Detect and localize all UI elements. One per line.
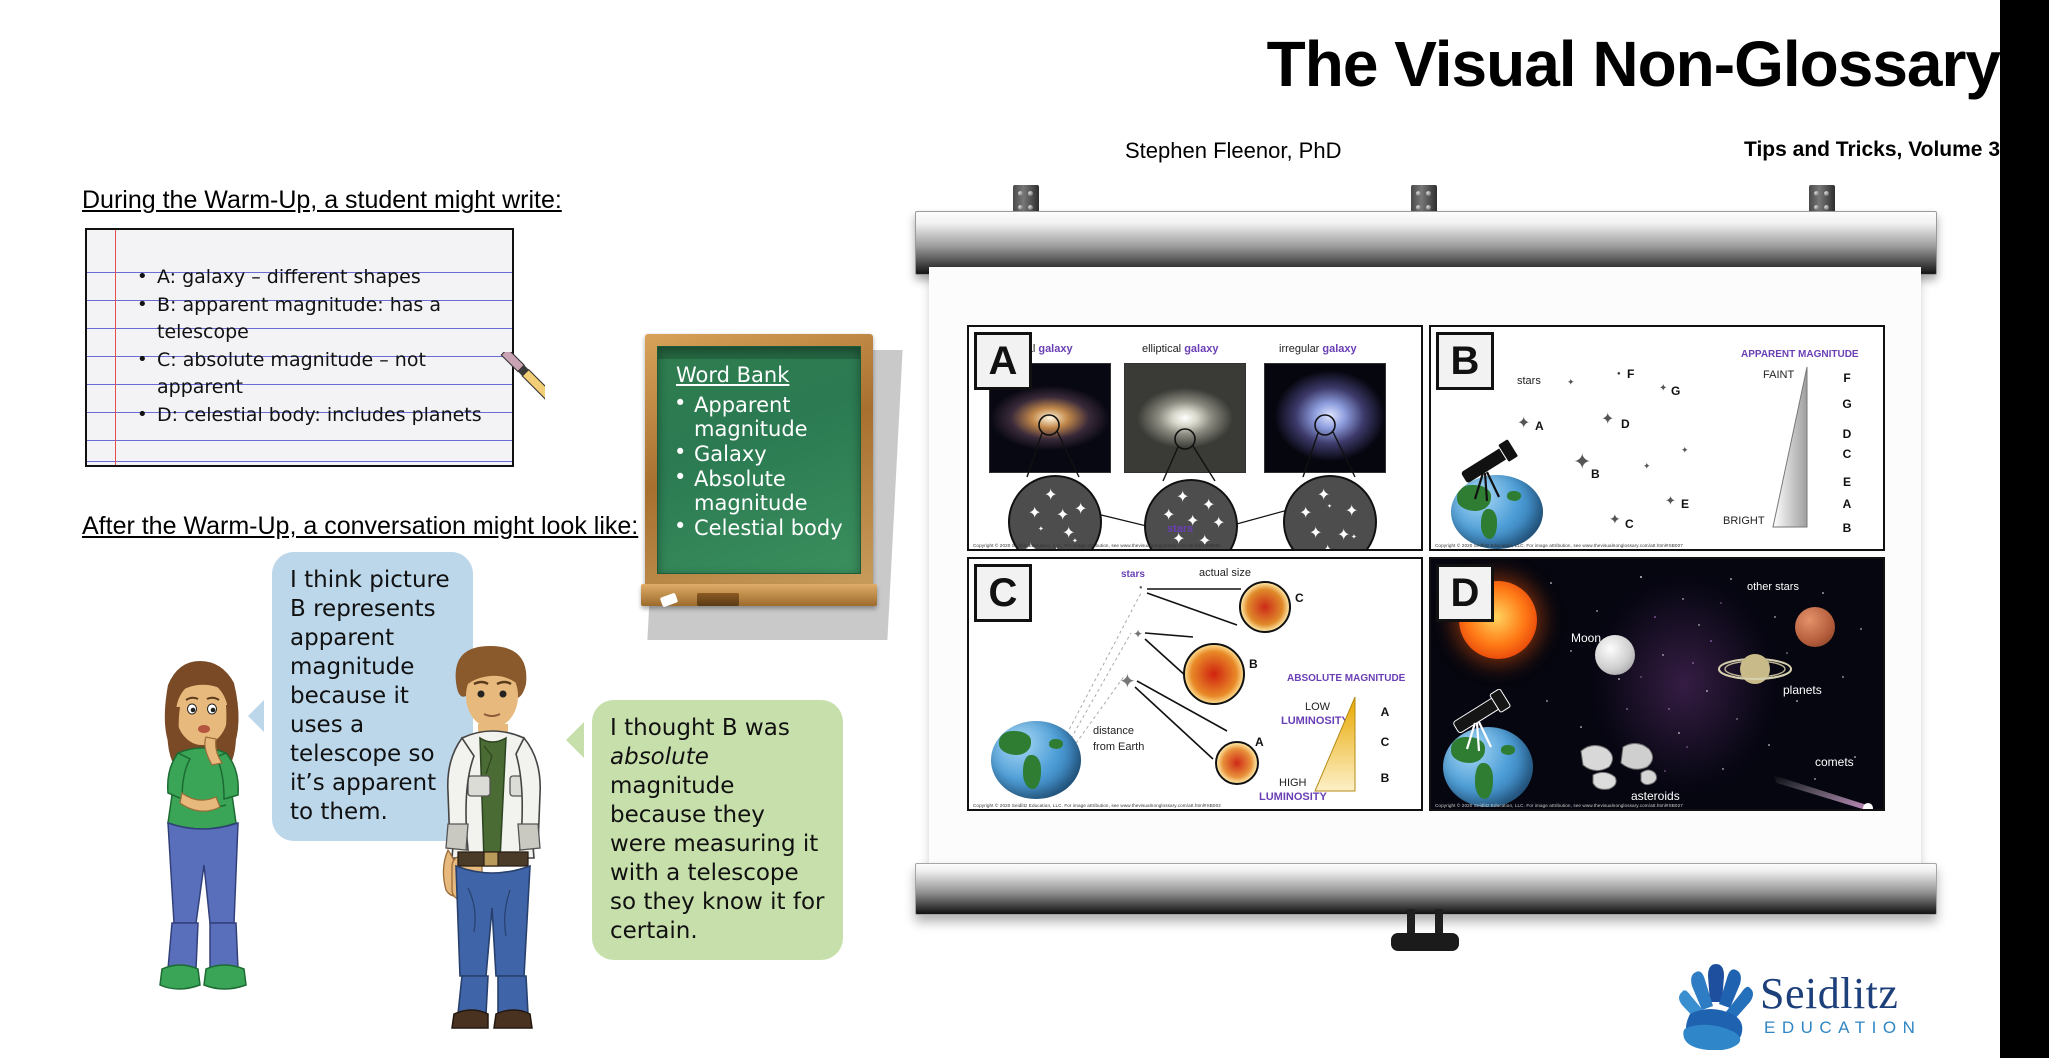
scale-c-item-b: B [1377,771,1393,785]
magnitude-triangle-b [1763,365,1829,531]
list-item: A: galaxy – different shapes [131,264,504,291]
panel-label-b: B [1436,332,1494,390]
hand-icon [1672,962,1758,1050]
mars-image [1795,607,1835,647]
planets-label: planets [1783,683,1822,697]
scale-item-g: G [1839,397,1855,411]
star-glyph: ✦ [1681,445,1689,456]
star-label-g: G [1671,384,1680,398]
other-stars-label: other stars [1747,581,1799,593]
eraser-icon [697,593,739,606]
list-item: Apparent magnitude [672,393,854,441]
panels-grid: A spiral galaxy elliptical galaxy irregu… [967,325,1883,809]
comet-image [1771,771,1881,811]
projector-screen: A spiral galaxy elliptical galaxy irregu… [915,185,1935,925]
telescope-icon-d [1445,689,1521,755]
panel-c-absolute-magnitude[interactable]: C stars actual size ● ✦ ✦ C B [967,557,1423,811]
list-item: Absolute magnitude [672,467,854,515]
star-label-a-disc: A [1255,735,1264,749]
scale-c-item-a: A [1377,705,1393,719]
after-heading: After the Warm-Up, a conversation might … [82,512,638,541]
pencil-icon [455,352,545,442]
copyright-c: Copyright © 2020 Seidlitz Education, LLC… [973,803,1221,808]
notebook-notes-list: A: galaxy – different shapes B: apparent… [131,264,504,430]
star-glyph-g: ✦ [1659,383,1667,394]
list-item: B: apparent magnitude: has a telescope [131,292,504,346]
scale-c-item-c: C [1377,735,1393,749]
star-label-e: E [1681,497,1689,511]
scale-item-c: C [1839,447,1855,461]
logo-wordmark: Seidlitz [1760,968,1898,1019]
slide-canvas: The Visual Non-Glossary Stephen Fleenor,… [0,0,2049,1058]
warmup-heading: During the Warm-Up, a student might writ… [82,186,562,215]
screen-bottom-bar[interactable] [915,863,1937,915]
page-title: The Visual Non-Glossary [1100,32,2000,96]
star-glyph-b: ✦ [1573,449,1591,475]
bright-label: BRIGHT [1723,515,1765,527]
bubble-text-emphasis: absolute [610,744,709,770]
scale-title-b: APPARENT MAGNITUDE [1741,349,1859,360]
panel-label-a: A [974,332,1032,390]
star-disc-b [1183,643,1245,705]
earth-globe-c [991,721,1081,799]
scale-item-a: A [1839,497,1855,511]
word-bank-title: Word Bank [676,363,789,387]
star-disc-a [1215,741,1259,785]
saturn-image [1713,645,1793,693]
copyright-a: Copyright © 2020 Seidlitz Education, LLC… [973,543,1221,548]
list-item: Galaxy [672,442,854,466]
seidlitz-education-logo: Seidlitz EDUCATION [1672,962,2002,1052]
scale-item-f: F [1839,371,1855,385]
logo-subtitle: EDUCATION [1764,1018,1921,1038]
star-disc-c [1239,581,1291,633]
screen-pull-handle[interactable] [1391,909,1459,949]
handle-grip [1391,933,1459,951]
chalkboard-frame: Word Bank Apparent magnitude Galaxy Abso… [645,334,873,600]
list-item: C: absolute magnitude – not apparent [131,347,504,401]
volume-label: Tips and Tricks, Volume 3 [1400,138,2000,162]
high-label: HIGH [1279,777,1307,789]
scale-item-b: B [1839,521,1855,535]
star-glyph-f: ● [1617,371,1621,377]
speech-bubble-boy: I thought B was absolute magnitude becau… [592,700,843,960]
star-glyph-d: ✦ [1601,409,1614,429]
panel-label-d: D [1436,564,1494,622]
moon-label: Moon [1571,631,1601,645]
panel-b-apparent-magnitude[interactable]: B APPARENT MAGNITUDE FAINT BRIGHT F G D … [1429,325,1885,551]
comets-label: comets [1815,755,1854,769]
list-item: Celestial body [672,516,854,540]
star-glyph-a: ✦ [1517,413,1530,433]
copyright-b: Copyright © 2020 Seidlitz Education, LLC… [1435,543,1683,548]
star-label-b-disc: B [1249,657,1258,671]
scale-item-e: E [1839,475,1855,489]
panel-label-c: C [974,564,1032,622]
star-label-d: D [1621,417,1630,431]
telescope-icon-b [1453,439,1527,505]
star-label-f: F [1627,367,1634,381]
chalkboard-surface: Word Bank Apparent magnitude Galaxy Abso… [657,346,861,574]
handle-post-left [1407,909,1415,935]
star-glyph: ✦ [1643,461,1651,472]
panel-a-galaxy[interactable]: A spiral galaxy elliptical galaxy irregu… [967,325,1423,551]
panel-d-celestial-body[interactable]: D [1429,557,1885,811]
notebook-paper: A: galaxy – different shapes B: apparent… [85,228,514,467]
boy-student-avatar [418,638,568,1038]
handle-post-right [1435,909,1443,935]
scale-title-c: ABSOLUTE MAGNITUDE [1287,673,1405,684]
bubble-text-before: I thought B was [610,715,790,741]
star-glyph-c: ✦ [1609,511,1621,528]
asteroids-label: asteroids [1631,789,1680,803]
chalkboard-top-shade [658,347,860,359]
girl-student-avatar [132,655,272,1005]
notebook-margin-line [115,230,116,465]
distance-label-line1: distance [1093,725,1134,737]
right-black-bar [2000,0,2049,1058]
word-bank-list: Apparent magnitude Galaxy Absolute magni… [672,393,854,541]
chalk-tray [641,584,877,606]
screen-top-roller [915,211,1937,275]
asteroids-image [1573,739,1683,795]
star-label-a: A [1535,419,1544,433]
author-name: Stephen Fleenor, PhD [1125,138,1341,164]
scale-item-d: D [1839,427,1855,441]
stars-label-b: stars [1517,375,1541,387]
luminosity-triangle-c [1309,695,1369,795]
star-label-c: C [1625,517,1634,531]
copyright-d: Copyright © 2020 Seidlitz Education, LLC… [1435,803,1683,808]
list-item: D: celestial body: includes planets [131,402,504,429]
bubble-text-after: magnitude because they were measuring it… [610,773,824,944]
star-glyph: ✦ [1567,377,1575,388]
screen-projection-area: A spiral galaxy elliptical galaxy irregu… [929,267,1921,867]
stars-label-a: stars [1167,523,1193,535]
distance-label-line2: from Earth [1093,741,1144,753]
star-glyph-e: ✦ [1665,493,1676,509]
star-label-b: B [1591,467,1600,481]
word-bank-chalkboard: Word Bank Apparent magnitude Galaxy Abso… [645,334,885,624]
chalk-icon [660,593,678,608]
star-label-c-disc: C [1295,591,1304,605]
